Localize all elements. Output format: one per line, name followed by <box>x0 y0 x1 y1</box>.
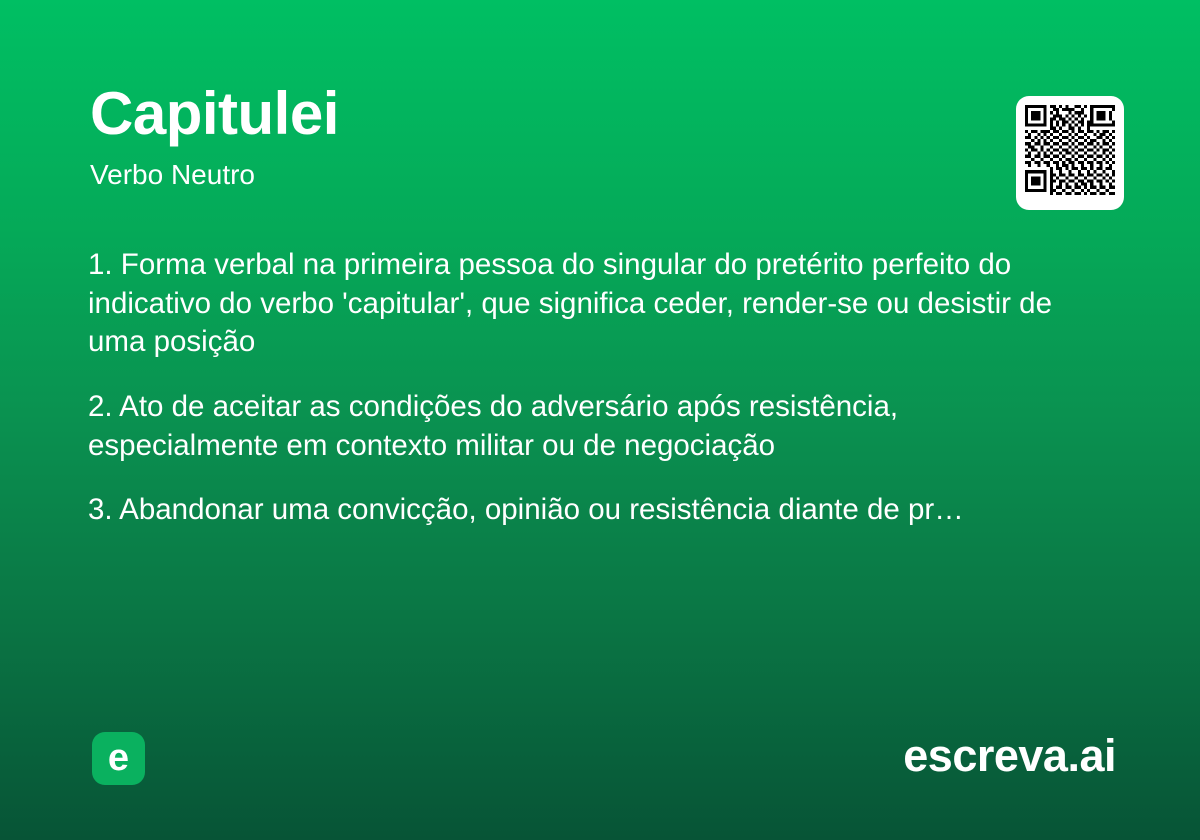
brand-name: escreva.ai <box>903 730 1116 782</box>
card-footer: e escreva.ai <box>0 732 1200 786</box>
qr-code-container[interactable] <box>1016 96 1124 210</box>
list-item: 1. Forma verbal na primeira pessoa do si… <box>88 246 1073 362</box>
definition-card: Capitulei Verbo Neutro 1. Forma verbal n… <box>0 0 1200 840</box>
word-class-label: Verbo Neutro <box>90 160 950 191</box>
logo: e <box>92 732 145 785</box>
list-item: 3. Abandonar uma convicção, opinião ou r… <box>88 491 1073 530</box>
qr-code-icon <box>1025 105 1115 195</box>
logo-letter: e <box>108 739 129 777</box>
page-title: Capitulei <box>90 84 950 144</box>
definitions-list: 1. Forma verbal na primeira pessoa do si… <box>88 246 1073 530</box>
card-header: Capitulei Verbo Neutro <box>90 84 950 191</box>
list-item: 2. Ato de aceitar as condições do advers… <box>88 388 1073 465</box>
